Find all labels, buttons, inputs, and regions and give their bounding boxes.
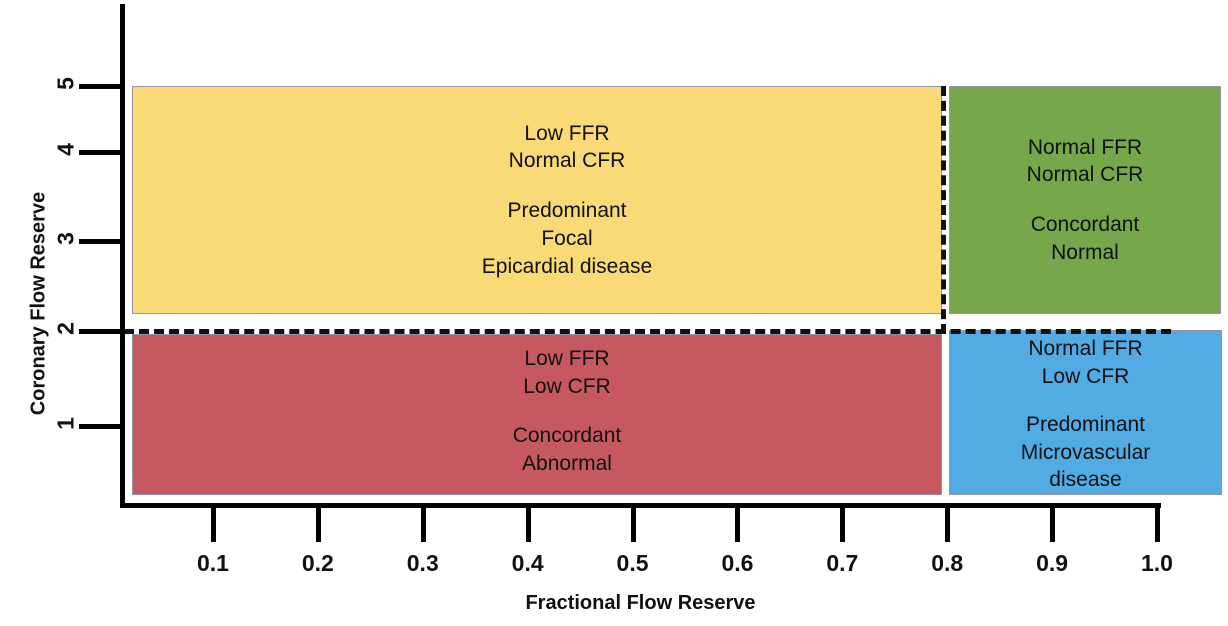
quadrant-yellow-line3: Predominant (482, 197, 652, 225)
quadrant-blue-line2: Low CFR (1028, 363, 1142, 391)
x-axis-tick-label-0.6: 0.6 (702, 550, 772, 577)
x-axis-tick-label-0.4: 0.4 (493, 550, 563, 577)
ffr-cfr-quadrant-chart: Low FFR Normal CFR Predominant Focal Epi… (0, 0, 1228, 626)
y-axis-title: Coronary Flow Reserve (28, 169, 51, 439)
quadrant-red-line3: Concordant (513, 422, 622, 450)
quadrant-yellow-line1: Low FFR (509, 120, 626, 148)
x-axis-tick-0.8 (945, 508, 950, 542)
x-axis-tick-1.0 (1155, 508, 1160, 542)
quadrant-blue-line5: disease (1021, 466, 1151, 494)
quadrant-red-line1: Low FFR (523, 345, 611, 373)
x-axis-tick-0.7 (840, 508, 845, 542)
x-axis-tick-label-0.9: 0.9 (1017, 550, 1087, 577)
y-axis-tick-4 (79, 150, 125, 155)
cfr-threshold-dashed-line (124, 329, 1171, 334)
y-axis-tick-label-2: 2 (53, 315, 80, 343)
x-axis-tick-label-0.7: 0.7 (807, 550, 877, 577)
x-axis-tick-label-0.8: 0.8 (912, 550, 982, 577)
x-axis-tick-0.4 (526, 508, 531, 542)
x-axis-tick-0.1 (211, 508, 216, 542)
quadrant-green-primary-text: Normal FFR Normal CFR (1027, 134, 1144, 189)
quadrant-yellow-line5: Epicardial disease (482, 253, 652, 281)
quadrant-blue-primary-text: Normal FFR Low CFR (1028, 335, 1142, 390)
x-axis-tick-0.2 (316, 508, 321, 542)
y-axis-tick-label-4: 4 (53, 136, 80, 164)
quadrant-red-primary-text: Low FFR Low CFR (523, 345, 611, 400)
quadrant-normal-ffr-normal-cfr: Normal FFR Normal CFR Concordant Normal (949, 86, 1221, 314)
quadrant-yellow-secondary-text: Predominant Focal Epicardial disease (482, 197, 652, 280)
quadrant-yellow-line2: Normal CFR (509, 147, 626, 175)
quadrant-low-ffr-low-cfr: Low FFR Low CFR Concordant Abnormal (132, 334, 942, 495)
y-axis-tick-1 (79, 424, 125, 429)
quadrant-green-line3: Concordant (1031, 211, 1140, 239)
quadrant-red-line4: Abnormal (513, 450, 622, 478)
quadrant-blue-secondary-text: Predominant Microvascular disease (1021, 411, 1151, 494)
x-axis-tick-label-0.5: 0.5 (598, 550, 668, 577)
x-axis-tick-0.6 (735, 508, 740, 542)
quadrant-red-secondary-text: Concordant Abnormal (513, 422, 622, 477)
quadrant-green-line4: Normal (1031, 239, 1140, 267)
x-axis-tick-0.9 (1050, 508, 1055, 542)
quadrant-blue-line4: Microvascular (1021, 439, 1151, 467)
y-axis-tick-label-1: 1 (53, 410, 80, 438)
quadrant-green-line1: Normal FFR (1027, 134, 1144, 162)
ffr-threshold-dashed-line (941, 86, 946, 334)
x-axis-tick-0.5 (631, 508, 636, 542)
quadrant-blue-line3: Predominant (1021, 411, 1151, 439)
y-axis-line (120, 4, 125, 507)
x-axis-line (120, 503, 1161, 508)
quadrant-low-ffr-normal-cfr: Low FFR Normal CFR Predominant Focal Epi… (132, 86, 942, 314)
x-axis-tick-0.3 (421, 508, 426, 542)
x-axis-title: Fractional Flow Reserve (120, 592, 1161, 615)
x-axis-tick-label-0.3: 0.3 (388, 550, 458, 577)
quadrant-green-secondary-text: Concordant Normal (1031, 211, 1140, 266)
quadrant-blue-line1: Normal FFR (1028, 335, 1142, 363)
y-axis-tick-label-3: 3 (53, 225, 80, 253)
quadrant-green-line2: Normal CFR (1027, 161, 1144, 189)
quadrant-normal-ffr-low-cfr: Normal FFR Low CFR Predominant Microvasc… (949, 330, 1222, 495)
y-axis-tick-label-5: 5 (53, 70, 80, 98)
quadrant-yellow-line4: Focal (482, 225, 652, 253)
quadrant-red-line2: Low CFR (523, 373, 611, 401)
y-axis-tick-2 (79, 329, 125, 334)
x-axis-tick-label-0.1: 0.1 (178, 550, 248, 577)
x-axis-tick-label-0.2: 0.2 (283, 550, 353, 577)
y-axis-tick-5 (79, 84, 125, 89)
y-axis-tick-3 (79, 239, 125, 244)
x-axis-tick-label-1.0: 1.0 (1122, 550, 1192, 577)
quadrant-yellow-primary-text: Low FFR Normal CFR (509, 120, 626, 175)
